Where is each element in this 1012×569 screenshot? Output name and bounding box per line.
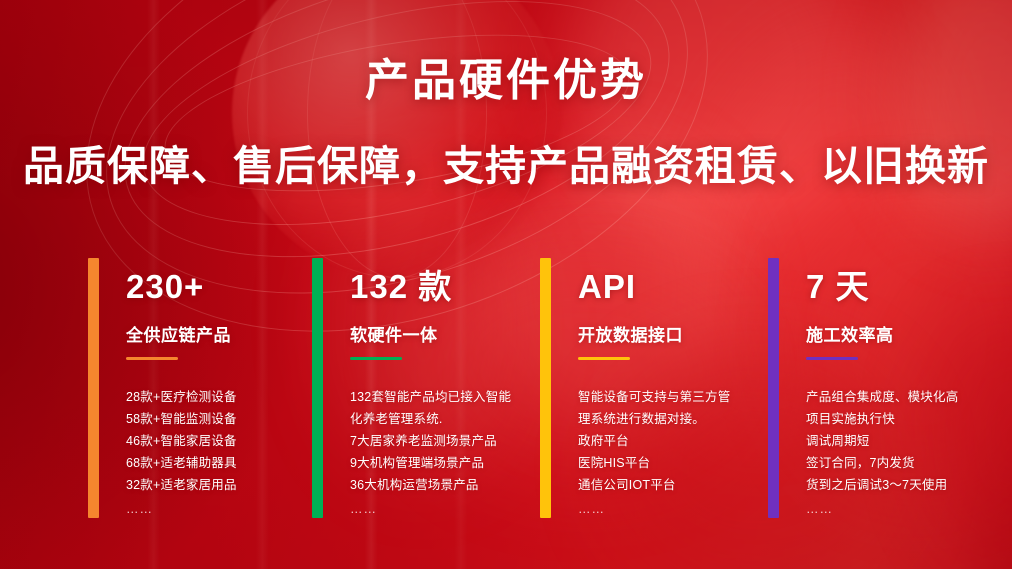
stat-number: 7 天 (806, 270, 958, 303)
stat-label: 全供应链产品 (126, 321, 237, 346)
detail-more-indicator: …… (806, 502, 958, 516)
column-divider (126, 357, 178, 360)
feature-column-2: 132 款 软硬件一体 132套智能产品均已接入智能 化养老管理系统. 7大居家… (312, 258, 540, 520)
detail-line: 货到之后调试3～7天使用 (806, 474, 958, 496)
detail-line: 调试周期短 (806, 430, 958, 452)
detail-line: 9大机构管理端场景产品 (350, 452, 511, 474)
page-title: 产品硬件优势 (0, 44, 1012, 108)
detail-line: 通信公司IOT平台 (578, 474, 730, 496)
stat-label: 开放数据接口 (578, 321, 730, 346)
detail-more-indicator: …… (350, 502, 511, 516)
accent-bar (312, 258, 323, 518)
detail-line: 36大机构运营场景产品 (350, 474, 511, 496)
detail-line: 政府平台 (578, 430, 730, 452)
detail-list: 产品组合集成度、模块化高 项目实施执行快 调试周期短 签订合同，7内发货 货到之… (806, 386, 958, 516)
feature-column-1: 230+ 全供应链产品 28款+医疗检测设备 58款+智能监测设备 46款+智能… (88, 258, 312, 520)
stat-number: 230+ (126, 270, 237, 303)
stat-label: 软硬件一体 (350, 321, 511, 346)
accent-bar (768, 258, 779, 518)
page-subtitle: 品质保障、售后保障，支持产品融资租赁、以旧换新 (0, 132, 1012, 192)
detail-list: 智能设备可支持与第三方管 理系统进行数据对接。 政府平台 医院HIS平台 通信公… (578, 386, 730, 516)
detail-more-indicator: …… (578, 502, 730, 516)
detail-more-indicator: …… (126, 502, 237, 516)
stat-number: 132 款 (350, 270, 511, 303)
feature-columns: 230+ 全供应链产品 28款+医疗检测设备 58款+智能监测设备 46款+智能… (88, 258, 968, 520)
detail-list: 28款+医疗检测设备 58款+智能监测设备 46款+智能家居设备 68款+适老辅… (126, 386, 237, 516)
detail-list: 132套智能产品均已接入智能 化养老管理系统. 7大居家养老监测场景产品 9大机… (350, 386, 511, 516)
stat-number: API (578, 270, 730, 303)
detail-line: 132套智能产品均已接入智能 (350, 386, 511, 408)
detail-line: 产品组合集成度、模块化高 (806, 386, 958, 408)
detail-line: 签订合同，7内发货 (806, 452, 958, 474)
accent-bar (540, 258, 551, 518)
column-divider (350, 357, 402, 360)
detail-line: 28款+医疗检测设备 (126, 386, 237, 408)
detail-line: 46款+智能家居设备 (126, 430, 237, 452)
detail-line: 项目实施执行快 (806, 408, 958, 430)
detail-line: 58款+智能监测设备 (126, 408, 237, 430)
feature-column-3: API 开放数据接口 智能设备可支持与第三方管 理系统进行数据对接。 政府平台 … (540, 258, 768, 520)
detail-line: 7大居家养老监测场景产品 (350, 430, 511, 452)
stat-label: 施工效率高 (806, 321, 958, 346)
accent-bar (88, 258, 99, 518)
detail-line: 化养老管理系统. (350, 408, 511, 430)
feature-column-4: 7 天 施工效率高 产品组合集成度、模块化高 项目实施执行快 调试周期短 签订合… (768, 258, 968, 520)
detail-line: 68款+适老辅助器具 (126, 452, 237, 474)
detail-line: 智能设备可支持与第三方管 (578, 386, 730, 408)
detail-line: 理系统进行数据对接。 (578, 408, 730, 430)
column-divider (578, 357, 630, 360)
detail-line: 医院HIS平台 (578, 452, 730, 474)
detail-line: 32款+适老家居用品 (126, 474, 237, 496)
column-divider (806, 357, 858, 360)
